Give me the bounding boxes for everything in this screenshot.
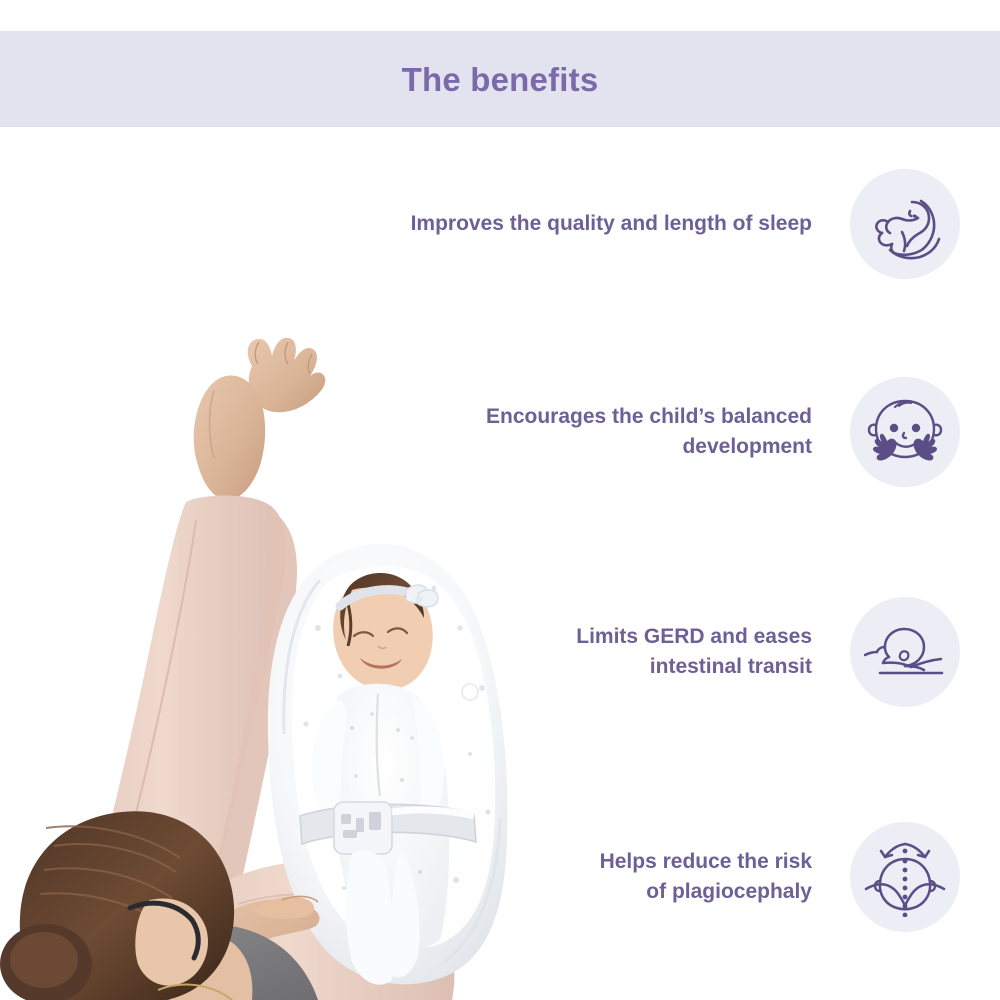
inclined-baby-head-icon [864,621,946,683]
page-title: The benefits [402,63,599,96]
benefits-infographic: The benefits [0,0,1000,1000]
baby-face-hands-icon [865,395,945,469]
header-band: The benefits [0,31,1000,127]
head-rotation-icon [863,837,947,917]
benefit-icon-circle [850,169,960,279]
benefit-row: Encourages the child’s balanced developm… [400,377,960,487]
benefit-row: Limits GERD and eases intestinal transit [400,597,960,707]
benefit-row: Improves the quality and length of sleep [400,169,960,279]
fetus-icon [866,185,944,263]
benefit-label: Helps reduce the risk of plagiocephaly [600,847,850,907]
benefit-label: Improves the quality and length of sleep [411,209,850,239]
benefit-icon-circle [850,822,960,932]
benefit-icon-circle [850,377,960,487]
benefit-icon-circle [850,597,960,707]
benefit-label: Limits GERD and eases intestinal transit [576,622,850,682]
benefit-row: Helps reduce the risk of plagiocephaly [400,822,960,932]
benefit-label: Encourages the child’s balanced developm… [400,402,850,462]
